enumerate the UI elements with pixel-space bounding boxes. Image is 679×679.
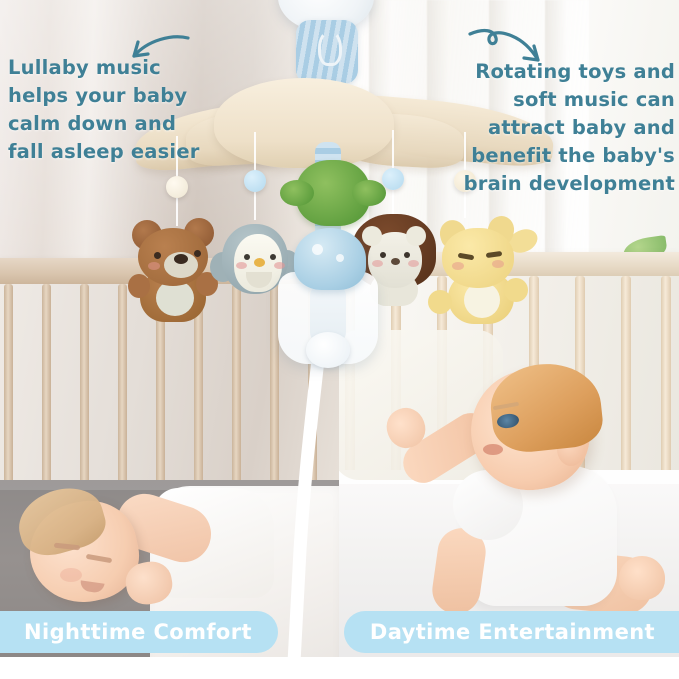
callout-left-line-4: fall asleep easier <box>8 138 220 166</box>
callout-right-line-2: soft music can <box>445 86 675 114</box>
callout-left-line-3: calm down and <box>8 110 220 138</box>
badge-daytime-entertainment: Daytime Entertainment <box>344 611 679 653</box>
badge-nighttime-comfort: Nighttime Comfort <box>0 611 278 653</box>
hang-string-6 <box>254 192 256 220</box>
mobile-hook-icon <box>318 30 342 66</box>
callout-right-line-1: Rotating toys and <box>445 58 675 86</box>
fox-plush-toy <box>434 216 526 324</box>
callout-left-line-2: helps your baby <box>8 82 220 110</box>
badge-right-label: Daytime Entertainment <box>370 620 655 644</box>
callout-right-line-5: brain development <box>445 170 675 198</box>
sleeping-baby <box>8 478 238 618</box>
bottom-white-bar <box>0 657 679 679</box>
badge-left-label: Nighttime Comfort <box>24 620 252 644</box>
bead-blue <box>244 170 266 192</box>
hang-string-3 <box>392 130 394 168</box>
bead-blue-2 <box>382 168 404 190</box>
hang-string-2 <box>254 132 256 172</box>
callout-right-line-3: attract baby and <box>445 114 675 142</box>
bear-plush-toy <box>130 218 216 322</box>
bead-cream <box>166 176 188 198</box>
music-box-knob[interactable] <box>306 332 350 368</box>
callout-right-text: Rotating toys and soft music can attract… <box>445 58 675 198</box>
callout-right-line-4: benefit the baby's <box>445 142 675 170</box>
callout-left-text: Lullaby music helps your baby calm down … <box>8 54 220 166</box>
callout-left-line-1: Lullaby music <box>8 54 220 82</box>
product-feature-image: Lullaby music helps your baby calm down … <box>0 0 679 679</box>
music-box-unit[interactable] <box>278 228 380 364</box>
